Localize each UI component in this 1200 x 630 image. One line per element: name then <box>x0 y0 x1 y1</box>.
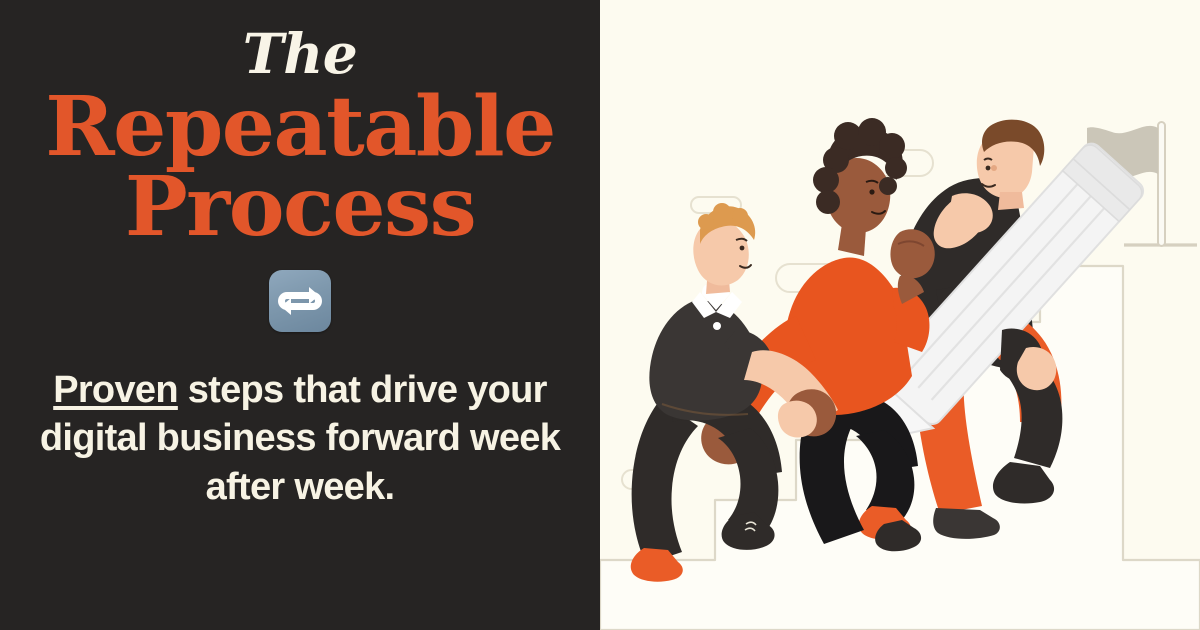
headline-eyebrow: The <box>243 26 357 81</box>
page-title: Repeatable Process <box>6 87 594 248</box>
woman-eye <box>869 189 874 194</box>
subheadline-underlined-word: Proven <box>53 369 178 411</box>
flag-pole <box>1158 122 1165 246</box>
helped-man-hair-curl-3 <box>732 208 748 224</box>
helped-man-eye <box>740 246 745 251</box>
subheadline: Proven steps that drive your digital bus… <box>20 366 580 512</box>
woman-raised-fist <box>890 229 934 278</box>
pencil-man-ear <box>991 165 997 171</box>
right-illustration-panel <box>600 0 1200 630</box>
helped-man-hair-curl-1 <box>698 214 714 230</box>
left-text-panel: The Repeatable Process Proven step <box>0 0 600 630</box>
woman-hair-curl-4 <box>834 122 862 150</box>
people-climbing-stairs-illustration <box>600 0 1200 630</box>
social-share-banner: The Repeatable Process Proven step <box>0 0 1200 630</box>
repeat-emoji-wrap <box>269 270 331 332</box>
pencil-man-eye <box>986 166 991 171</box>
subheadline-rest-line-1: steps that drive your <box>178 369 547 411</box>
woman-hair-curl-3 <box>816 190 840 214</box>
woman-hair-curl-7 <box>885 157 907 179</box>
helped-man-hair-curl-2 <box>713 203 731 221</box>
repeat-icon <box>269 270 331 332</box>
subheadline-line-2: digital business forward <box>40 417 460 459</box>
pencil-man-neck <box>998 192 1024 210</box>
title-line-2: Process <box>6 167 594 247</box>
woman-hair-curl-8 <box>879 177 897 195</box>
woman-hair-curl-6 <box>879 133 905 159</box>
woman-hair-curl-2 <box>813 167 839 193</box>
helped-man-button <box>713 322 721 330</box>
